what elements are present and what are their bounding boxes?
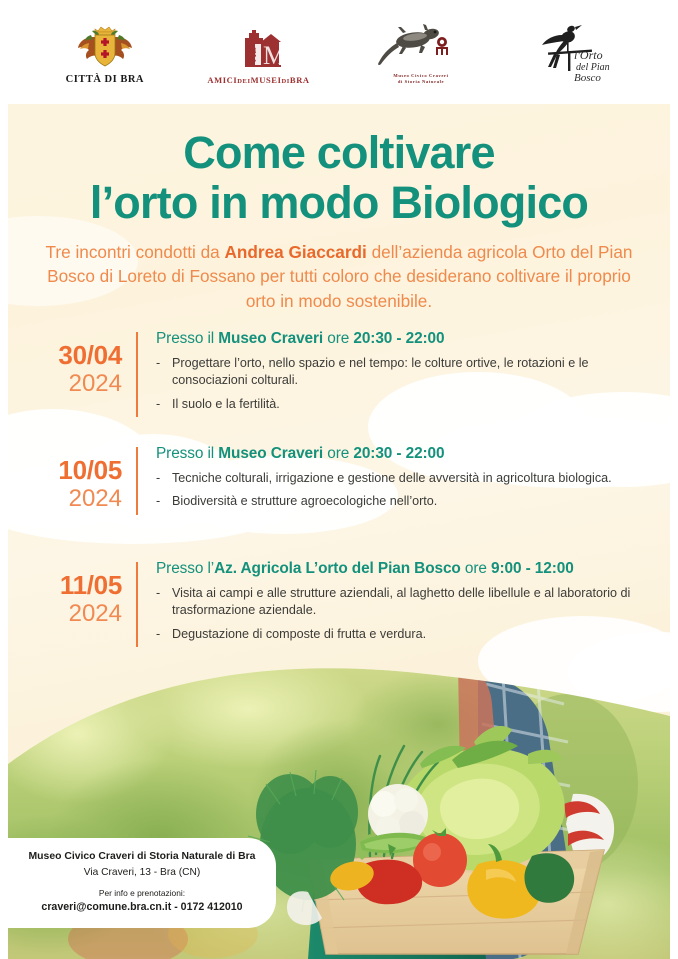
logo-caption-craveri: Museo Civico Craveri di Storia Naturale: [393, 73, 448, 85]
bullet-dash: -: [156, 396, 172, 413]
event-date-year: 2024: [24, 370, 122, 398]
event-venue: Az. Agricola L’orto del Pian Bosco: [214, 560, 461, 577]
amici-word-4: DI: [281, 78, 289, 85]
svg-text:AD: AD: [247, 46, 259, 62]
logo-bar: CITTÀ DI BRA AD M AMICIDEIMUSEIDIBRA: [0, 0, 678, 104]
svg-text:Bosco: Bosco: [574, 72, 601, 84]
logo-caption-amici: AMICIDEIMUSEIDIBRA: [207, 75, 309, 85]
museum-name: Museo Civico Craveri di Storia Naturale …: [24, 850, 260, 865]
event-head-mid: ore: [461, 560, 491, 577]
poster: CITTÀ DI BRA AD M AMICIDEIMUSEIDIBRA: [0, 0, 678, 959]
contact-details[interactable]: craveri@comune.bra.cn.it - 0172 412010: [24, 900, 260, 915]
logo-orto-pian-bosco: l'Orto del Pian Bosco: [532, 19, 612, 85]
event-date: 10/05 2024: [24, 445, 136, 517]
bullet-text: Visita ai campi e alle strutture azienda…: [172, 585, 654, 620]
bullet-text: Progettare l’orto, nello spazio e nel te…: [172, 355, 654, 390]
list-item: -Progettare l’orto, nello spazio e nel t…: [156, 355, 654, 390]
event-heading: Presso l’Az. Agricola L’orto del Pian Bo…: [156, 560, 654, 578]
event-body: Presso il Museo Craveri ore 20:30 - 22:0…: [138, 445, 654, 517]
contact-card: Museo Civico Craveri di Storia Naturale …: [8, 838, 276, 928]
event-date-daymonth: 11/05: [24, 571, 122, 600]
amici-word-2: DEI: [237, 78, 250, 85]
page-title: Come coltivare l’orto in modo Biologico: [0, 128, 678, 229]
craveri-line-1: Museo Civico Craveri: [393, 73, 448, 78]
bullet-text: Biodiversità e strutture agroecologiche …: [172, 493, 437, 510]
bullet-dash: -: [156, 355, 172, 390]
event-head-prefix: Presso il: [156, 330, 218, 347]
list-item: -Tecniche colturali, irrigazione e gesti…: [156, 470, 654, 487]
amici-word-3: MUSEI: [251, 75, 282, 85]
scarecrow-bird-icon: l'Orto del Pian Bosco: [532, 23, 612, 85]
presenter-name: Andrea Giaccardi: [225, 242, 367, 262]
event-venue: Museo Craveri: [218, 445, 323, 462]
list-item: -Degustazione di composte di frutta e ve…: [156, 626, 654, 643]
event-venue: Museo Craveri: [218, 330, 323, 347]
event-block: 10/05 2024 Presso il Museo Craveri ore 2…: [24, 445, 654, 517]
event-date-year: 2024: [24, 600, 122, 628]
coat-of-arms-icon: [69, 23, 141, 71]
event-heading: Presso il Museo Craveri ore 20:30 - 22:0…: [156, 330, 654, 348]
intro-part-1: Tre incontri condotti da: [46, 242, 225, 262]
event-head-mid: ore: [323, 445, 353, 462]
event-time: 20:30 - 22:00: [353, 330, 444, 347]
list-item: -Il suolo e la fertilità.: [156, 396, 654, 413]
booking-label: Per info e prenotazioni:: [24, 888, 260, 900]
bullet-dash: -: [156, 585, 172, 620]
amici-word-5: BRA: [290, 75, 310, 85]
event-bullet-list: -Tecniche colturali, irrigazione e gesti…: [156, 470, 654, 511]
event-time: 20:30 - 22:00: [353, 445, 444, 462]
logo-amici-dei-musei: AD M AMICIDEIMUSEIDIBRA: [207, 19, 309, 85]
svg-text:l'Orto: l'Orto: [574, 48, 603, 62]
event-time: 9:00 - 12:00: [491, 560, 574, 577]
event-date: 30/04 2024: [24, 330, 136, 419]
title-line-1: Come coltivare: [183, 127, 494, 178]
event-head-prefix: Presso l’: [156, 560, 214, 577]
event-block: 11/05 2024 Presso l’Az. Agricola L’orto …: [24, 560, 654, 649]
bullet-dash: -: [156, 493, 172, 510]
bullet-dash: -: [156, 470, 172, 487]
logo-caption-citta: CITTÀ DI BRA: [66, 74, 144, 85]
bullet-text: Il suolo e la fertilità.: [172, 396, 280, 413]
craveri-line-2: di Storia Naturale: [398, 79, 444, 84]
intro-paragraph: Tre incontri condotti da Andrea Giaccard…: [39, 240, 639, 313]
event-body: Presso il Museo Craveri ore 20:30 - 22:0…: [138, 330, 654, 419]
list-item: -Biodiversità e strutture agroecologiche…: [156, 493, 654, 510]
event-date-daymonth: 10/05: [24, 456, 122, 485]
event-bullet-list: -Visita ai campi e alle strutture aziend…: [156, 585, 654, 643]
event-date-daymonth: 30/04: [24, 341, 122, 370]
list-item: -Visita ai campi e alle strutture aziend…: [156, 585, 654, 620]
lizard-icon: [373, 20, 469, 70]
event-bullet-list: -Progettare l’orto, nello spazio e nel t…: [156, 355, 654, 413]
bullet-text: Tecniche colturali, irrigazione e gestio…: [172, 470, 612, 487]
title-line-2: l’orto in modo Biologico: [90, 177, 588, 228]
event-date-year: 2024: [24, 485, 122, 513]
museum-building-icon: AD M: [225, 24, 293, 72]
event-block: 30/04 2024 Presso il Museo Craveri ore 2…: [24, 330, 654, 419]
event-date: 11/05 2024: [24, 560, 136, 649]
bullet-dash: -: [156, 626, 172, 643]
event-head-prefix: Presso il: [156, 445, 218, 462]
amici-word-1: AMICI: [207, 75, 237, 85]
event-body: Presso l’Az. Agricola L’orto del Pian Bo…: [138, 560, 654, 649]
logo-citta-di-bra: CITTÀ DI BRA: [66, 19, 144, 85]
event-head-mid: ore: [323, 330, 353, 347]
logo-museo-craveri: Museo Civico Craveri di Storia Naturale: [373, 19, 469, 85]
museum-address: Via Craveri, 13 - Bra (CN): [24, 865, 260, 880]
event-heading: Presso il Museo Craveri ore 20:30 - 22:0…: [156, 445, 654, 463]
bullet-text: Degustazione di composte di frutta e ver…: [172, 626, 426, 643]
